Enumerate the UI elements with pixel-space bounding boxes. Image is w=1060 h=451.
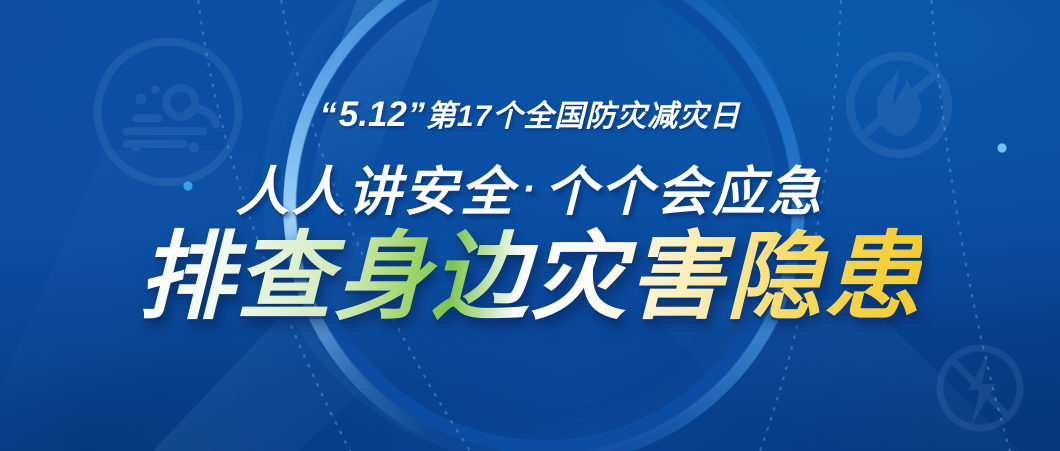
date-label: 5.12 [338, 95, 408, 134]
slogan-separator: · [516, 167, 544, 211]
headline-stack: “5.12”第17个全国防灾减灾日 人人讲安全·个个会应急 排查身边灾害隐患 [0, 0, 1060, 451]
headline-line-3: 排查身边灾害隐患 [0, 224, 1060, 332]
poster-banner: “5.12”第17个全国防灾减灾日 人人讲安全·个个会应急 排查身边灾害隐患 [0, 0, 1060, 451]
headline-line-3-text: 排查身边灾害隐患 [138, 224, 922, 331]
headline-line-1: “5.12”第17个全国防灾减灾日 [0, 91, 1060, 135]
quote-close-mark: ” [408, 96, 426, 134]
slogan-part-a: 人人讲安全 [236, 163, 516, 222]
headline-line-1-suffix: 第17个全国防灾减灾日 [426, 100, 740, 133]
quote-open-mark: “ [320, 96, 338, 134]
slogan-part-b: 个个会应急 [544, 163, 824, 222]
headline-line-2: 人人讲安全·个个会应急 [0, 150, 1060, 226]
